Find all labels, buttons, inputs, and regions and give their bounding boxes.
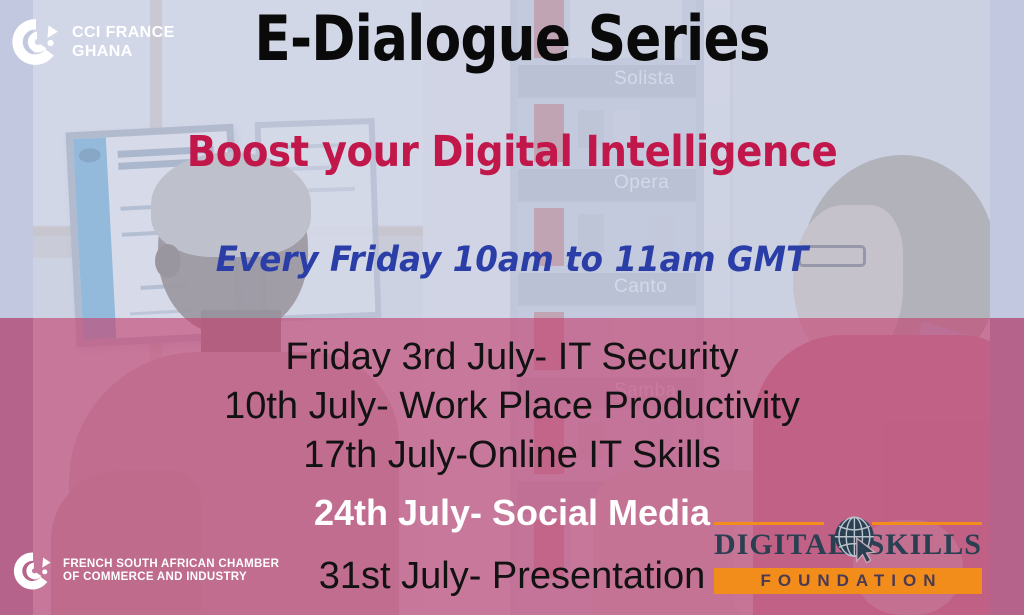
dsf-word-digital: DIGITAL [714,528,849,562]
page-title: E-Dialogue Series [72,8,953,70]
logo-cci-line2: GHANA [72,42,175,61]
dsf-rule-right [872,522,982,525]
logo-fsacci-line1: FRENCH SOUTH AFRICAN CHAMBER [63,558,279,572]
logo-french-south-african-chamber: FRENCH SOUTH AFRICAN CHAMBER OF COMMERCE… [12,550,279,592]
logo-fsacci-text: FRENCH SOUTH AFRICAN CHAMBER OF COMMERCE… [63,558,279,585]
globe-cursor-icon [830,514,882,566]
dsf-rule-left [714,522,824,525]
logo-fsacci-line2: OF COMMERCE AND INDUSTRY [63,571,279,585]
lavender-band-right [990,0,1024,318]
dsf-word-skills: SKILLS [868,528,982,562]
schedule-item: 10th July- Work Place Productivity [0,382,1024,431]
schedule-item: 17th July-Online IT Skills [0,431,1024,480]
poster-canvas: Solista Opera Canto Samba [0,0,1024,615]
schedule-timeline: Every Friday 10am to 11am GMT [36,240,988,280]
schedule-item: Friday 3rd July- IT Security [0,333,1024,382]
cci-monogram-icon [10,16,62,68]
page-subtitle: Boost your Digital Intelligence [51,127,973,177]
logo-cci-text: CCI FRANCE GHANA [72,23,175,61]
logo-cci-france-ghana: CCI FRANCE GHANA [10,16,175,68]
logo-digital-skills-foundation: DIGITAL SKILLS FOUNDATION [712,520,984,598]
cci-monogram-icon [12,550,54,592]
dsf-foundation-band: FOUNDATION [714,568,982,594]
dsf-wordmark-row: DIGITAL SKILLS [712,520,984,568]
logo-cci-line1: CCI FRANCE [72,23,175,42]
